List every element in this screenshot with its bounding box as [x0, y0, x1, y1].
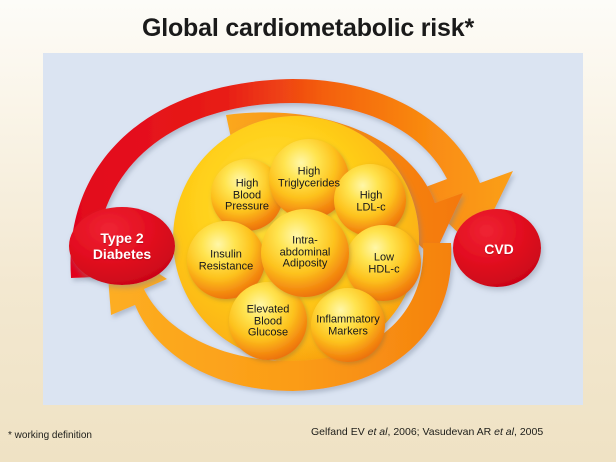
bubble-intra-abdominal-adiposity[interactable] — [261, 209, 349, 297]
bubble-high-ldl-c[interactable] — [334, 164, 406, 236]
node-label-cvd: CVD — [484, 241, 514, 257]
citation: Gelfand EV et al, 2006; Vasudevan AR et … — [311, 426, 543, 438]
citation-etal-2: et al — [494, 426, 514, 438]
footnote: * working definition — [8, 430, 92, 441]
citation-year-2: , 2005 — [514, 426, 543, 438]
citation-author-1: Gelfand EV — [311, 426, 368, 438]
citation-year-1: , 2006; — [387, 426, 422, 438]
diagram-panel: Type 2 Diabetes CVD High Blood Pressure … — [43, 53, 583, 405]
citation-etal-1: et al — [368, 426, 388, 438]
node-label-type-2-diabetes: Type 2 Diabetes — [93, 230, 151, 262]
cardiometabolic-risk-diagram — [43, 53, 583, 405]
bubble-inflammatory-markers[interactable] — [311, 288, 385, 362]
citation-author-2: Vasudevan AR — [423, 426, 495, 438]
page-title: Global cardiometabolic risk* — [0, 14, 616, 43]
